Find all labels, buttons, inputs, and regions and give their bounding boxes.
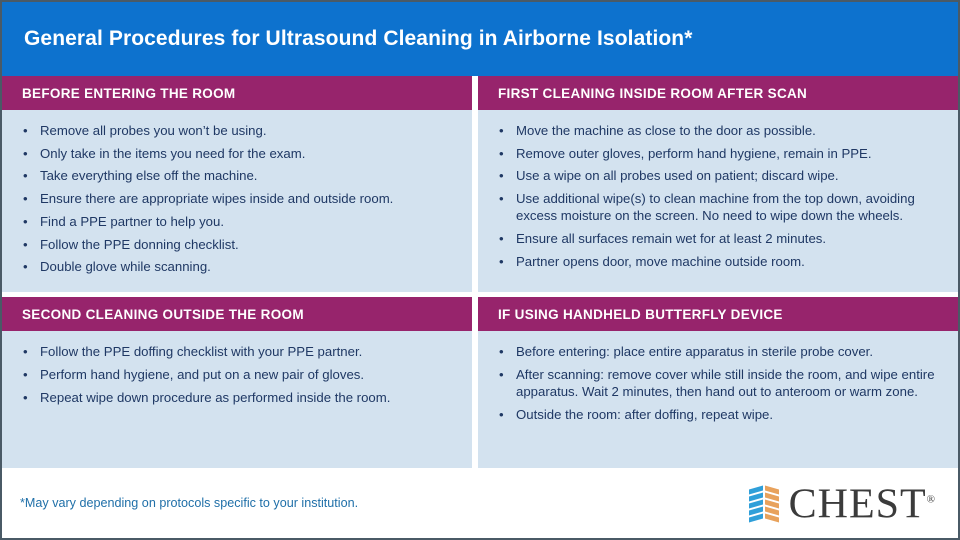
bullet-icon: • (23, 258, 28, 275)
bullet-icon: • (499, 366, 504, 383)
panel-body-first-cleaning-inside-room-after-scan: •Move the machine as close to the door a… (478, 110, 958, 292)
bullet-icon: • (23, 213, 28, 230)
chest-wordmark-text: CHEST (789, 482, 927, 528)
bullet-icon: • (23, 236, 28, 253)
list-item: •Follow the PPE doffing checklist with y… (20, 343, 458, 360)
list-item: •After scanning: remove cover while stil… (496, 366, 944, 400)
panel-second-cleaning-outside-the-room: SECOND CLEANING OUTSIDE THE ROOM •Follow… (2, 297, 472, 468)
list-item: •Double glove while scanning. (20, 258, 458, 275)
panel-body-if-using-handheld-butterfly-device: •Before entering: place entire apparatus… (478, 331, 958, 468)
list-item-text: Ensure there are appropriate wipes insid… (40, 191, 393, 206)
bullet-list: •Before entering: place entire apparatus… (496, 343, 944, 423)
list-item-text: Remove outer gloves, perform hand hygien… (516, 146, 872, 161)
bullet-list: •Follow the PPE doffing checklist with y… (20, 343, 458, 406)
bullet-icon: • (23, 343, 28, 360)
panel-before-entering-the-room: BEFORE ENTERING THE ROOM •Remove all pro… (2, 76, 472, 292)
bullet-icon: • (23, 122, 28, 139)
panel-row-top: BEFORE ENTERING THE ROOM •Remove all pro… (2, 76, 958, 292)
panel-grid: BEFORE ENTERING THE ROOM •Remove all pro… (2, 76, 958, 468)
list-item: •Take everything else off the machine. (20, 167, 458, 184)
bullet-icon: • (499, 167, 504, 184)
list-item: •Repeat wipe down procedure as performed… (20, 389, 458, 406)
list-item-text: Use a wipe on all probes used on patient… (516, 168, 839, 183)
slide-root: General Procedures for Ultrasound Cleani… (0, 0, 960, 540)
list-item: •Remove all probes you won’t be using. (20, 122, 458, 139)
slide-title-bar: General Procedures for Ultrasound Cleani… (2, 2, 958, 76)
bullet-icon: • (499, 406, 504, 423)
bullet-icon: • (499, 253, 504, 270)
list-item: •Use additional wipe(s) to clean machine… (496, 190, 944, 224)
list-item-text: After scanning: remove cover while still… (516, 367, 935, 399)
list-item-text: Use additional wipe(s) to clean machine … (516, 191, 915, 223)
panel-body-second-cleaning-outside-the-room: •Follow the PPE doffing checklist with y… (2, 331, 472, 468)
panel-header-label: SECOND CLEANING OUTSIDE THE ROOM (22, 307, 304, 322)
panel-header-label: IF USING HANDHELD BUTTERFLY DEVICE (498, 307, 783, 322)
list-item-text: Remove all probes you won’t be using. (40, 123, 267, 138)
registered-trademark-icon: ® (927, 494, 936, 506)
list-item: •Ensure all surfaces remain wet for at l… (496, 230, 944, 247)
list-item: •Ensure there are appropriate wipes insi… (20, 190, 458, 207)
list-item: •Use a wipe on all probes used on patien… (496, 167, 944, 184)
page-title: General Procedures for Ultrasound Cleani… (24, 27, 693, 51)
panel-first-cleaning-inside-room-after-scan: FIRST CLEANING INSIDE ROOM AFTER SCAN •M… (478, 76, 958, 292)
list-item: •Only take in the items you need for the… (20, 145, 458, 162)
bullet-icon: • (499, 230, 504, 247)
list-item: •Find a PPE partner to help you. (20, 213, 458, 230)
chest-logo: CHEST® (747, 480, 936, 527)
bullet-list: •Remove all probes you won’t be using. •… (20, 122, 458, 275)
bullet-icon: • (23, 167, 28, 184)
list-item: •Move the machine as close to the door a… (496, 122, 944, 139)
panel-header-label: BEFORE ENTERING THE ROOM (22, 86, 235, 101)
footnote-text: *May vary depending on protocols specifi… (20, 496, 358, 510)
bullet-icon: • (499, 343, 504, 360)
list-item-text: Outside the room: after doffing, repeat … (516, 407, 773, 422)
list-item-text: Move the machine as close to the door as… (516, 123, 816, 138)
panel-header-if-using-handheld-butterfly-device: IF USING HANDHELD BUTTERFLY DEVICE (478, 297, 958, 331)
list-item-text: Ensure all surfaces remain wet for at le… (516, 231, 826, 246)
slide-footer: *May vary depending on protocols specifi… (2, 468, 958, 538)
list-item-text: Partner opens door, move machine outside… (516, 254, 805, 269)
panel-if-using-handheld-butterfly-device: IF USING HANDHELD BUTTERFLY DEVICE •Befo… (478, 297, 958, 468)
panel-header-label: FIRST CLEANING INSIDE ROOM AFTER SCAN (498, 86, 807, 101)
list-item-text: Follow the PPE donning checklist. (40, 237, 239, 252)
list-item: •Before entering: place entire apparatus… (496, 343, 944, 360)
bullet-icon: • (499, 145, 504, 162)
bullet-icon: • (23, 389, 28, 406)
bullet-icon: • (499, 190, 504, 207)
list-item-text: Before entering: place entire apparatus … (516, 344, 873, 359)
bullet-icon: • (23, 145, 28, 162)
panel-body-before-entering-the-room: •Remove all probes you won’t be using. •… (2, 110, 472, 292)
list-item: •Remove outer gloves, perform hand hygie… (496, 145, 944, 162)
list-item-text: Perform hand hygiene, and put on a new p… (40, 367, 364, 382)
chest-wordmark: CHEST® (789, 479, 936, 526)
list-item-text: Take everything else off the machine. (40, 168, 257, 183)
list-item-text: Find a PPE partner to help you. (40, 214, 224, 229)
list-item-text: Repeat wipe down procedure as performed … (40, 390, 390, 405)
bullet-list: •Move the machine as close to the door a… (496, 122, 944, 270)
list-item: •Partner opens door, move machine outsid… (496, 253, 944, 270)
list-item: •Follow the PPE donning checklist. (20, 236, 458, 253)
panel-header-first-cleaning-inside-room-after-scan: FIRST CLEANING INSIDE ROOM AFTER SCAN (478, 76, 958, 110)
panel-header-before-entering-the-room: BEFORE ENTERING THE ROOM (2, 76, 472, 110)
list-item-text: Only take in the items you need for the … (40, 146, 305, 161)
list-item: •Perform hand hygiene, and put on a new … (20, 366, 458, 383)
bullet-icon: • (499, 122, 504, 139)
list-item-text: Follow the PPE doffing checklist with yo… (40, 344, 362, 359)
panel-row-bottom: SECOND CLEANING OUTSIDE THE ROOM •Follow… (2, 297, 958, 468)
bullet-icon: • (23, 190, 28, 207)
chest-ribs-logo-icon (747, 483, 783, 523)
list-item: •Outside the room: after doffing, repeat… (496, 406, 944, 423)
bullet-icon: • (23, 366, 28, 383)
list-item-text: Double glove while scanning. (40, 259, 211, 274)
panel-header-second-cleaning-outside-the-room: SECOND CLEANING OUTSIDE THE ROOM (2, 297, 472, 331)
